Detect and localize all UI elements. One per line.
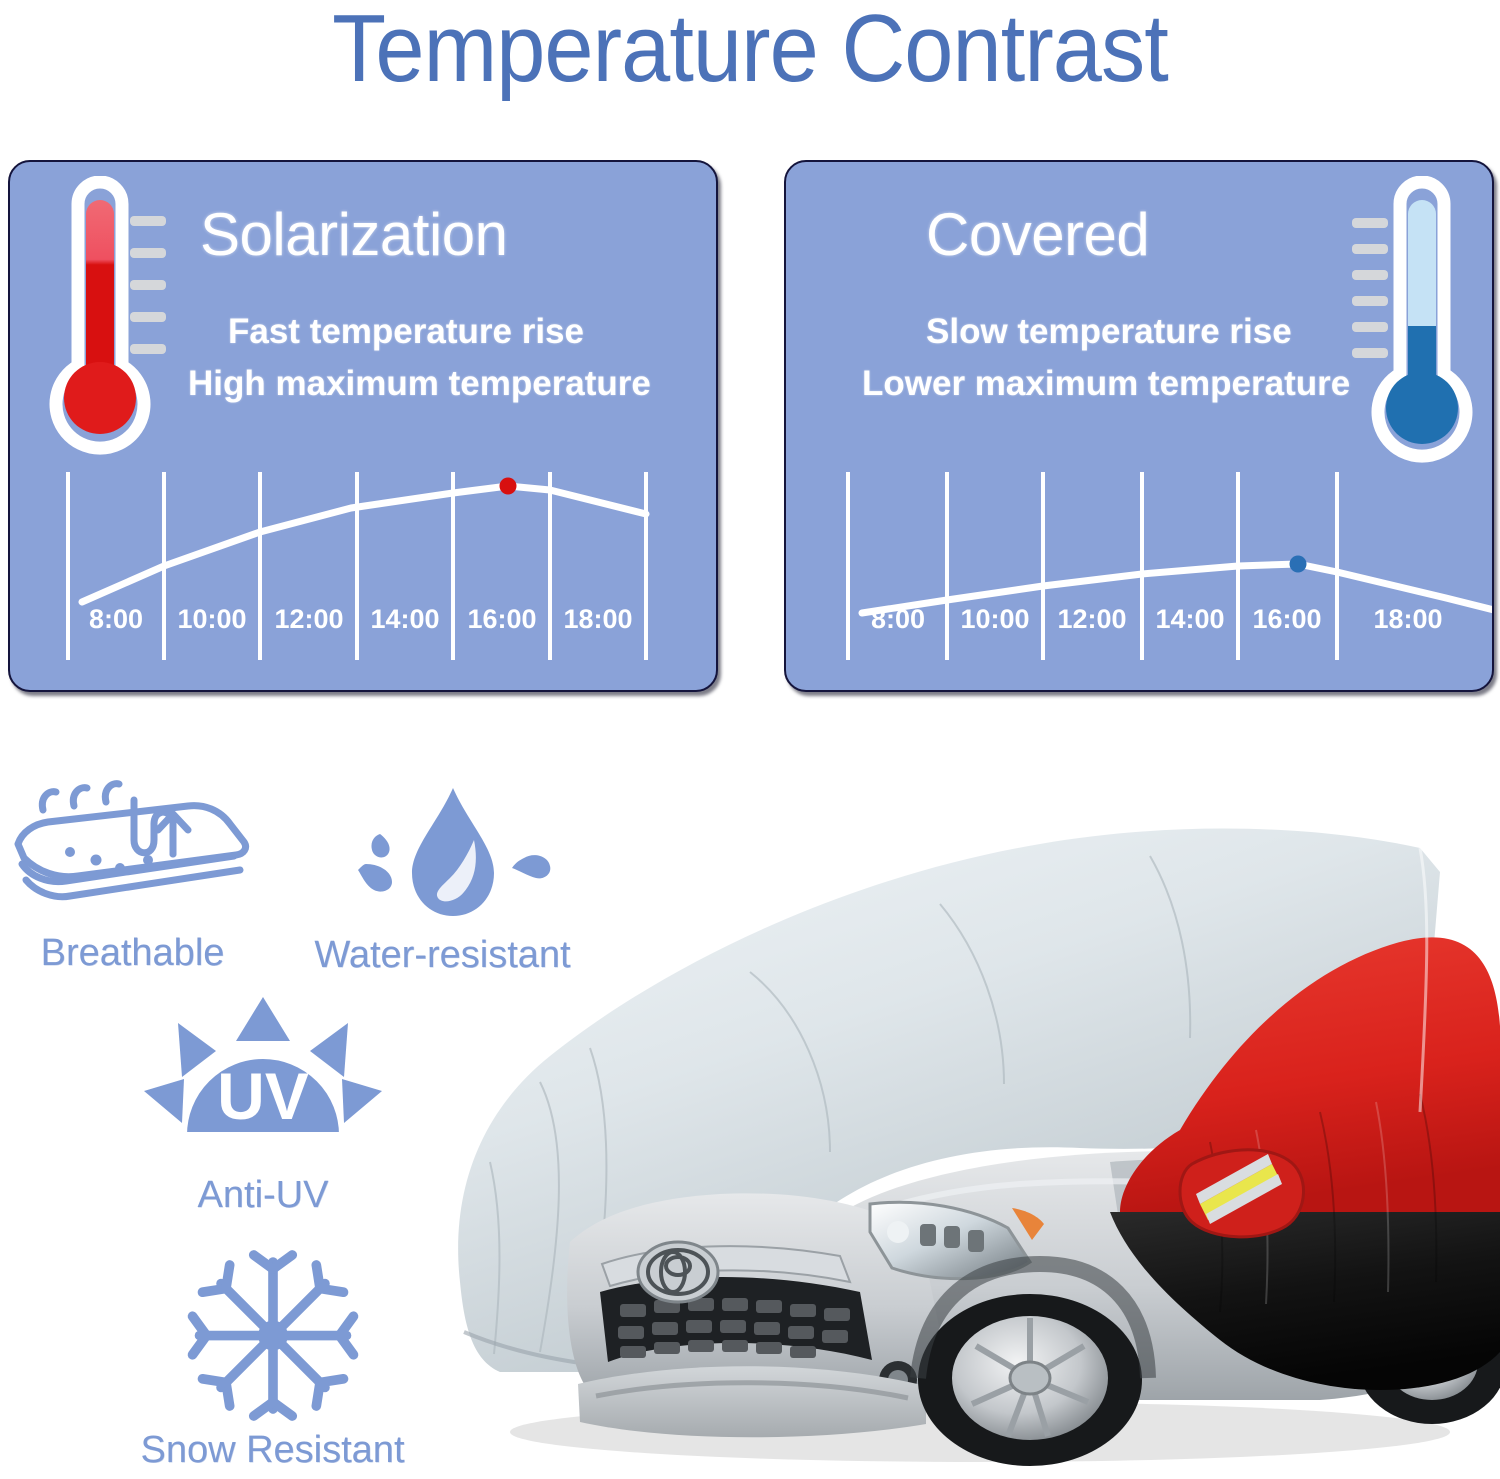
solarization-temperature-chart: 8:00 10:00 12:00 14:00 16:00 18:00	[10, 448, 718, 692]
front-wheel	[918, 1294, 1142, 1466]
feature-label: Breathable	[0, 932, 265, 975]
covered-temperature-chart: 8:00 10:00 12:00 14:00 16:00 18:00	[786, 448, 1494, 692]
thermometer-bulb	[1386, 372, 1458, 444]
solarization-subtitle-2: High maximum temperature	[188, 364, 651, 404]
uv-badge-text: UV	[217, 1059, 309, 1133]
feature-label: Snow Resistant	[130, 1429, 415, 1472]
x-label: 16:00	[467, 604, 536, 634]
fabric-breathable-icon	[8, 780, 258, 930]
mirror-pocket	[1180, 1150, 1304, 1237]
thermometer-ticks	[1352, 218, 1388, 358]
peak-marker-hot	[500, 478, 517, 495]
x-label: 16:00	[1252, 604, 1321, 634]
x-label: 8:00	[89, 604, 143, 634]
solarization-subtitle-1: Fast temperature rise	[228, 312, 584, 352]
feature-breathable: Breathable	[0, 780, 265, 975]
x-label: 8:00	[871, 604, 925, 634]
covered-heading: Covered	[926, 200, 1149, 269]
solarization-heading: Solarization	[200, 200, 508, 269]
x-label: 18:00	[1373, 604, 1442, 634]
thermometer-column	[86, 200, 114, 380]
brand-emblem	[638, 1242, 718, 1302]
peak-marker-cold	[1290, 556, 1307, 573]
x-label: 18:00	[563, 604, 632, 634]
thermometer-ticks	[130, 216, 166, 354]
snowflake-center	[258, 1321, 288, 1351]
cold-thermometer-icon	[1334, 176, 1484, 466]
x-label: 14:00	[370, 604, 439, 634]
x-label: 12:00	[1057, 604, 1126, 634]
snowflake-icon	[168, 1248, 378, 1423]
thermometer-bulb	[64, 362, 136, 434]
chart-x-labels: 8:00 10:00 12:00 14:00 16:00 18:00	[871, 604, 1443, 634]
feature-anti-uv: UV Anti-UV	[128, 995, 398, 1217]
lower-bumper	[578, 1366, 926, 1437]
covered-subtitle-2: Lower maximum temperature	[862, 364, 1350, 404]
suv-with-car-cover-photo	[420, 812, 1500, 1472]
feature-snow-resistant: Snow Resistant	[130, 1248, 415, 1472]
x-label: 10:00	[960, 604, 1029, 634]
feature-label: Anti-UV	[128, 1174, 398, 1217]
sun-uv-icon: UV	[138, 995, 388, 1170]
temperature-line	[82, 486, 646, 602]
chart-gridlines	[68, 472, 646, 660]
x-label: 10:00	[177, 604, 246, 634]
hot-thermometer-icon	[38, 176, 188, 456]
page-title: Temperature Contrast	[60, 0, 1440, 104]
panel-solarization: Solarization Fast temperature rise High …	[8, 160, 718, 692]
panel-covered: Covered Slow temperature rise Lower maxi…	[784, 160, 1494, 692]
x-label: 14:00	[1155, 604, 1224, 634]
covered-subtitle-1: Slow temperature rise	[926, 312, 1292, 352]
infographic-root: Temperature Contrast Solarization Fast t…	[0, 0, 1500, 1479]
x-label: 12:00	[274, 604, 343, 634]
